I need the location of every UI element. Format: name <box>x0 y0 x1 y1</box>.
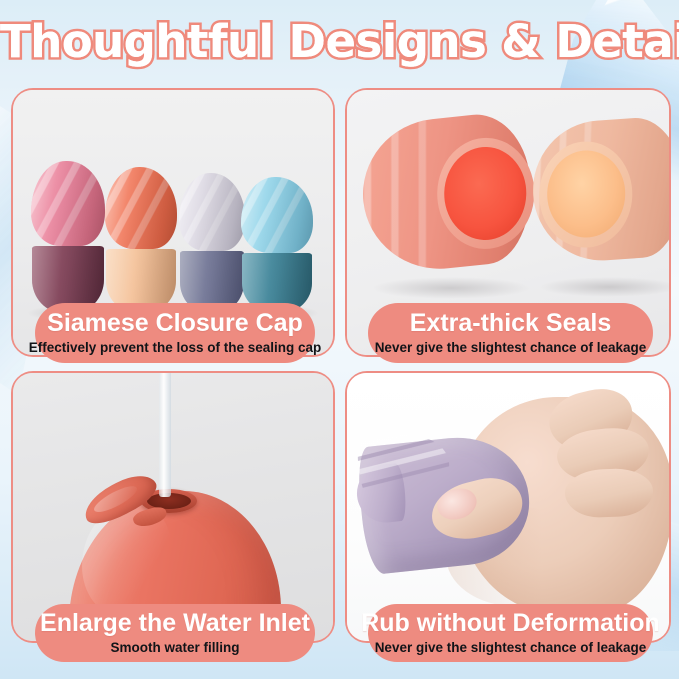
feature-title: Siamese Closure Cap <box>47 309 303 338</box>
cap-top <box>105 167 177 249</box>
product-coral-cap <box>105 167 177 313</box>
feature-title: Enlarge the Water Inlet <box>40 609 310 638</box>
cap-top <box>241 177 313 253</box>
product-lavender-cap <box>179 173 245 313</box>
feature-banner-enlarge-the-water-inlet: Enlarge the Water Inlet Smooth water fil… <box>35 604 315 662</box>
cap-top <box>179 173 245 251</box>
feature-title: Rub without Deformation <box>361 609 660 638</box>
product-pink-cap <box>31 161 105 313</box>
product-photo-water-inlet <box>13 373 333 641</box>
feature-subtitle: Effectively prevent the loss of the seal… <box>29 339 322 357</box>
product-coral-cup <box>356 110 539 277</box>
cap-top <box>31 161 105 246</box>
infographic-root: Thoughtful Designs & Details Thoughtful … <box>0 0 679 679</box>
cap-gloss <box>241 177 313 253</box>
product-blue-cap <box>241 177 313 313</box>
cup-shadow <box>539 277 669 297</box>
cap-gloss <box>105 167 177 249</box>
water-stream <box>159 373 171 497</box>
product-photo-hand-squeeze <box>347 373 669 641</box>
feature-subtitle: Never give the slightest chance of leaka… <box>375 639 647 657</box>
feature-card-rub-without-deformation <box>345 371 671 643</box>
feature-banner-siamese-closure-cap: Siamese Closure Cap Effectively prevent … <box>35 303 315 363</box>
feature-banner-rub-without-deformation: Rub without Deformation Never give the s… <box>368 604 653 662</box>
cup-shadow <box>371 277 531 299</box>
cap-gloss <box>179 173 245 251</box>
feature-banner-extra-thick-seals: Extra-thick Seals Never give the slighte… <box>368 303 653 363</box>
page-title: Thoughtful Designs & Details <box>0 11 679 73</box>
feature-subtitle: Smooth water filling <box>110 639 239 657</box>
feature-subtitle: Never give the slightest chance of leaka… <box>375 339 647 357</box>
product-orange-cup <box>528 115 669 265</box>
feature-card-enlarge-the-water-inlet <box>11 371 335 643</box>
feature-title: Extra-thick Seals <box>410 309 612 338</box>
cap-gloss <box>31 161 105 246</box>
